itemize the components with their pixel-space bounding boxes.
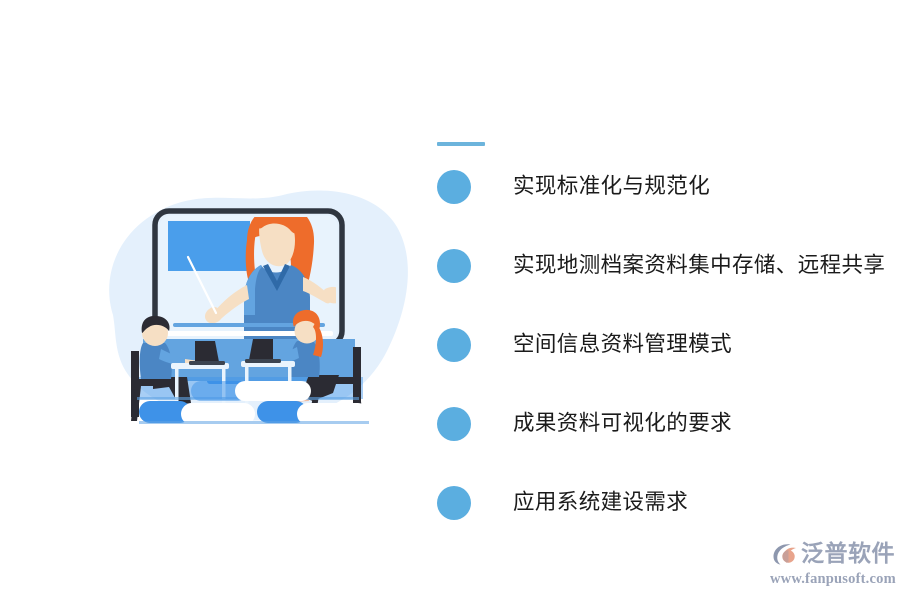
list-item: 空间信息资料管理模式 <box>437 324 892 365</box>
watermark-company-name: 泛普软件 <box>801 539 895 567</box>
feature-bullet-list: 实现标准化与规范化 实现地测档案资料集中存储、远程共享 空间信息资料管理模式 成… <box>437 166 892 523</box>
list-item: 应用系统建设需求 <box>437 482 892 523</box>
laptop-left-base <box>189 361 225 365</box>
bullet-dot-icon <box>437 170 471 204</box>
watermark-logo: 泛普软件 www.fanpusoft.com <box>770 536 892 590</box>
laptop-left-screen <box>195 341 219 362</box>
bullet-dot-icon <box>437 407 471 441</box>
bullet-dot-icon <box>437 328 471 362</box>
watermark-url: www.fanpusoft.com <box>770 571 892 588</box>
accent-rule <box>437 142 485 146</box>
list-item: 实现地测档案资料集中存储、远程共享 <box>437 245 892 286</box>
list-item: 成果资料可视化的要求 <box>437 403 892 444</box>
list-item-label: 实现标准化与规范化 <box>513 173 710 200</box>
list-item-label: 空间信息资料管理模式 <box>513 331 732 358</box>
bullet-dot-icon <box>437 486 471 520</box>
bullet-dot-icon <box>437 249 471 283</box>
list-item-label: 应用系统建设需求 <box>513 489 688 516</box>
laptop-right-screen <box>249 339 273 360</box>
online-classroom-illustration <box>95 165 415 430</box>
list-item-label: 成果资料可视化的要求 <box>513 410 732 437</box>
slide-canvas: 实现标准化与规范化 实现地测档案资料集中存储、远程共享 空间信息资料管理模式 成… <box>0 0 900 600</box>
platform-base-line <box>139 421 369 424</box>
list-item: 实现标准化与规范化 <box>437 166 892 207</box>
laptop-right-base <box>245 359 281 363</box>
platform-white-2 <box>235 381 311 401</box>
whiteboard <box>168 221 250 271</box>
list-item-label: 实现地测档案资料集中存储、远程共享 <box>513 252 885 279</box>
fanpu-logo-mark-icon <box>770 539 798 567</box>
